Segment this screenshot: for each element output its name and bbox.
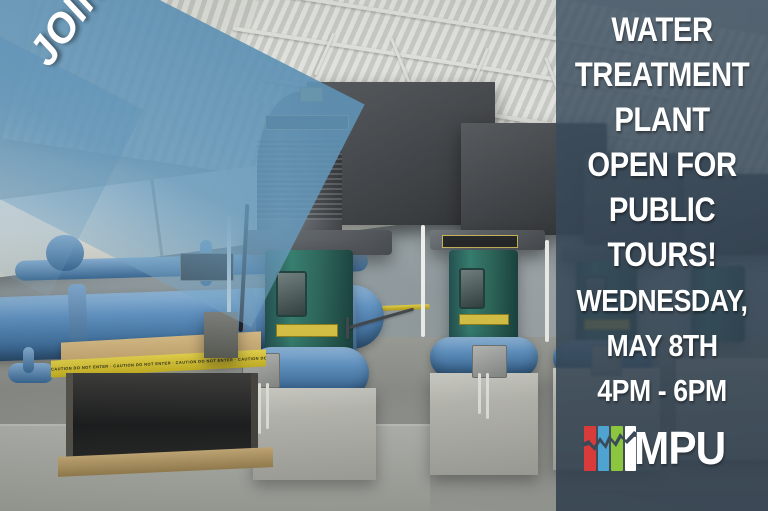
event-date: MAY 8TH [571,323,753,368]
event-day: WEDNESDAY, [571,278,753,323]
info-panel: WATER TREATMENT PLANT OPEN FOR PUBLIC TO… [556,0,768,511]
event-time: 4PM - 6PM [571,368,753,413]
handrail-post [346,317,349,339]
motor-cooling-fins-1 [257,138,341,220]
motor-nameplate-1 [265,115,349,130]
pump-pedestal-2 [430,373,538,475]
conduit-wire-2 [486,373,489,419]
headline-line-6: TOURS! [571,233,753,278]
small-blue-valve-stem [23,347,34,373]
motor-tag-1 [300,87,323,102]
pump-label-2 [459,314,509,325]
pump-tubing-2 [421,225,425,337]
pump-sight-window-1 [276,271,307,317]
pump-sight-window-2 [459,268,485,309]
conduit-wire-1 [258,383,261,434]
table-riser-block [204,312,239,358]
mpu-logo: MPU [584,424,740,472]
headline-line-2: TREATMENT [571,53,753,98]
blue-pipe-elbow [46,235,84,271]
headline-line-4: OPEN FOR [571,143,753,188]
headline-line-5: PUBLIC [571,188,753,233]
duct-seam [151,180,164,256]
mpu-wordmark: MPU [634,423,725,473]
work-table-frame [66,373,258,460]
pump-tubing-3 [545,240,549,342]
conduit-wire-2 [478,373,481,414]
pump-label-1 [276,324,337,336]
motor-nameplate-2 [442,235,519,248]
flyer-canvas: CAUTION DO NOT ENTER · CAUTION DO NOT EN… [0,0,768,511]
lightning-bolt-icon [582,430,642,452]
headline-line-3: PLANT [571,98,753,143]
headline-line-1: WATER [571,8,753,53]
